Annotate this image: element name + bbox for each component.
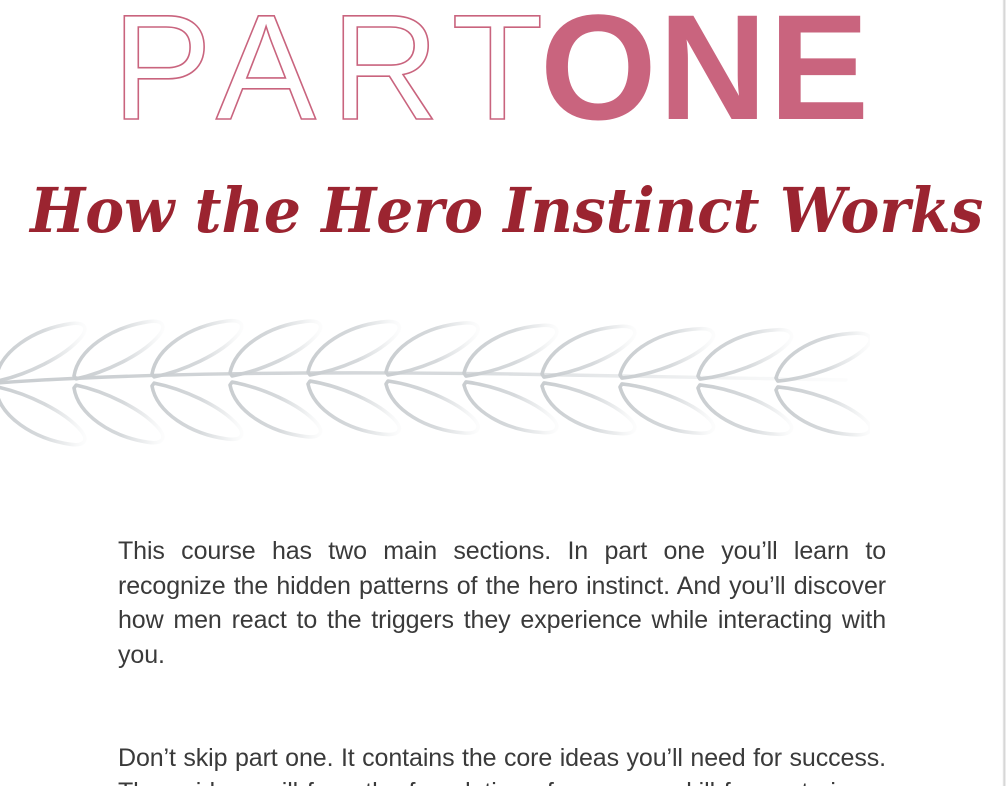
leafy-branch-icon bbox=[0, 312, 870, 452]
part-label: PART bbox=[112, 0, 558, 142]
part-number: ONE bbox=[540, 0, 871, 142]
part-heading: PART ONE bbox=[0, 0, 1006, 150]
page-title: How the Hero Instinct Works bbox=[30, 168, 976, 254]
body-text: This course has two main sections. In pa… bbox=[118, 534, 886, 786]
paragraph-2: Don’t skip part one. It contains the cor… bbox=[118, 741, 886, 786]
paragraph-1: This course has two main sections. In pa… bbox=[118, 534, 886, 707]
page-canvas: PART ONE How the Hero Instinct Works bbox=[0, 0, 1006, 786]
